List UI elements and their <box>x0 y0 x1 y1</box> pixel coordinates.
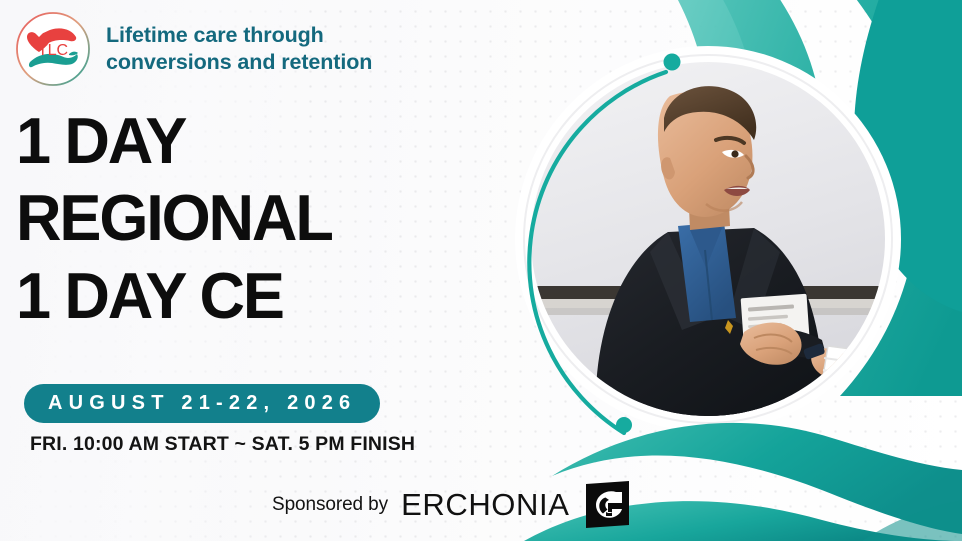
decorative-artwork <box>492 0 962 541</box>
tlc-logo-text: TLC <box>38 42 68 59</box>
brand-header: TLC Lifetime care through conversions an… <box>14 10 372 88</box>
sponsor-block: Sponsored by ERCHONIA <box>272 480 632 529</box>
headline-line-3: 1 DAY CE <box>16 265 520 327</box>
event-date-badge: AUGUST 21-22, 2026 <box>24 384 380 423</box>
event-time-line: FRI. 10:00 AM START ~ SAT. 5 PM FINISH <box>30 433 415 456</box>
headline-line-2: REGIONAL <box>16 187 520 249</box>
sponsor-label: Sponsored by <box>272 494 388 516</box>
tlc-logo: TLC <box>14 10 92 88</box>
page-title: 1 DAY REGIONAL 1 DAY CE <box>16 110 536 327</box>
headline-line-1: 1 DAY <box>16 110 520 172</box>
erchonia-logo-icon <box>583 480 632 529</box>
brand-tagline: Lifetime care through conversions and re… <box>106 22 372 77</box>
event-promo-poster: TLC Lifetime care through conversions an… <box>0 0 962 541</box>
sponsor-name: ERCHONIA <box>401 489 569 520</box>
